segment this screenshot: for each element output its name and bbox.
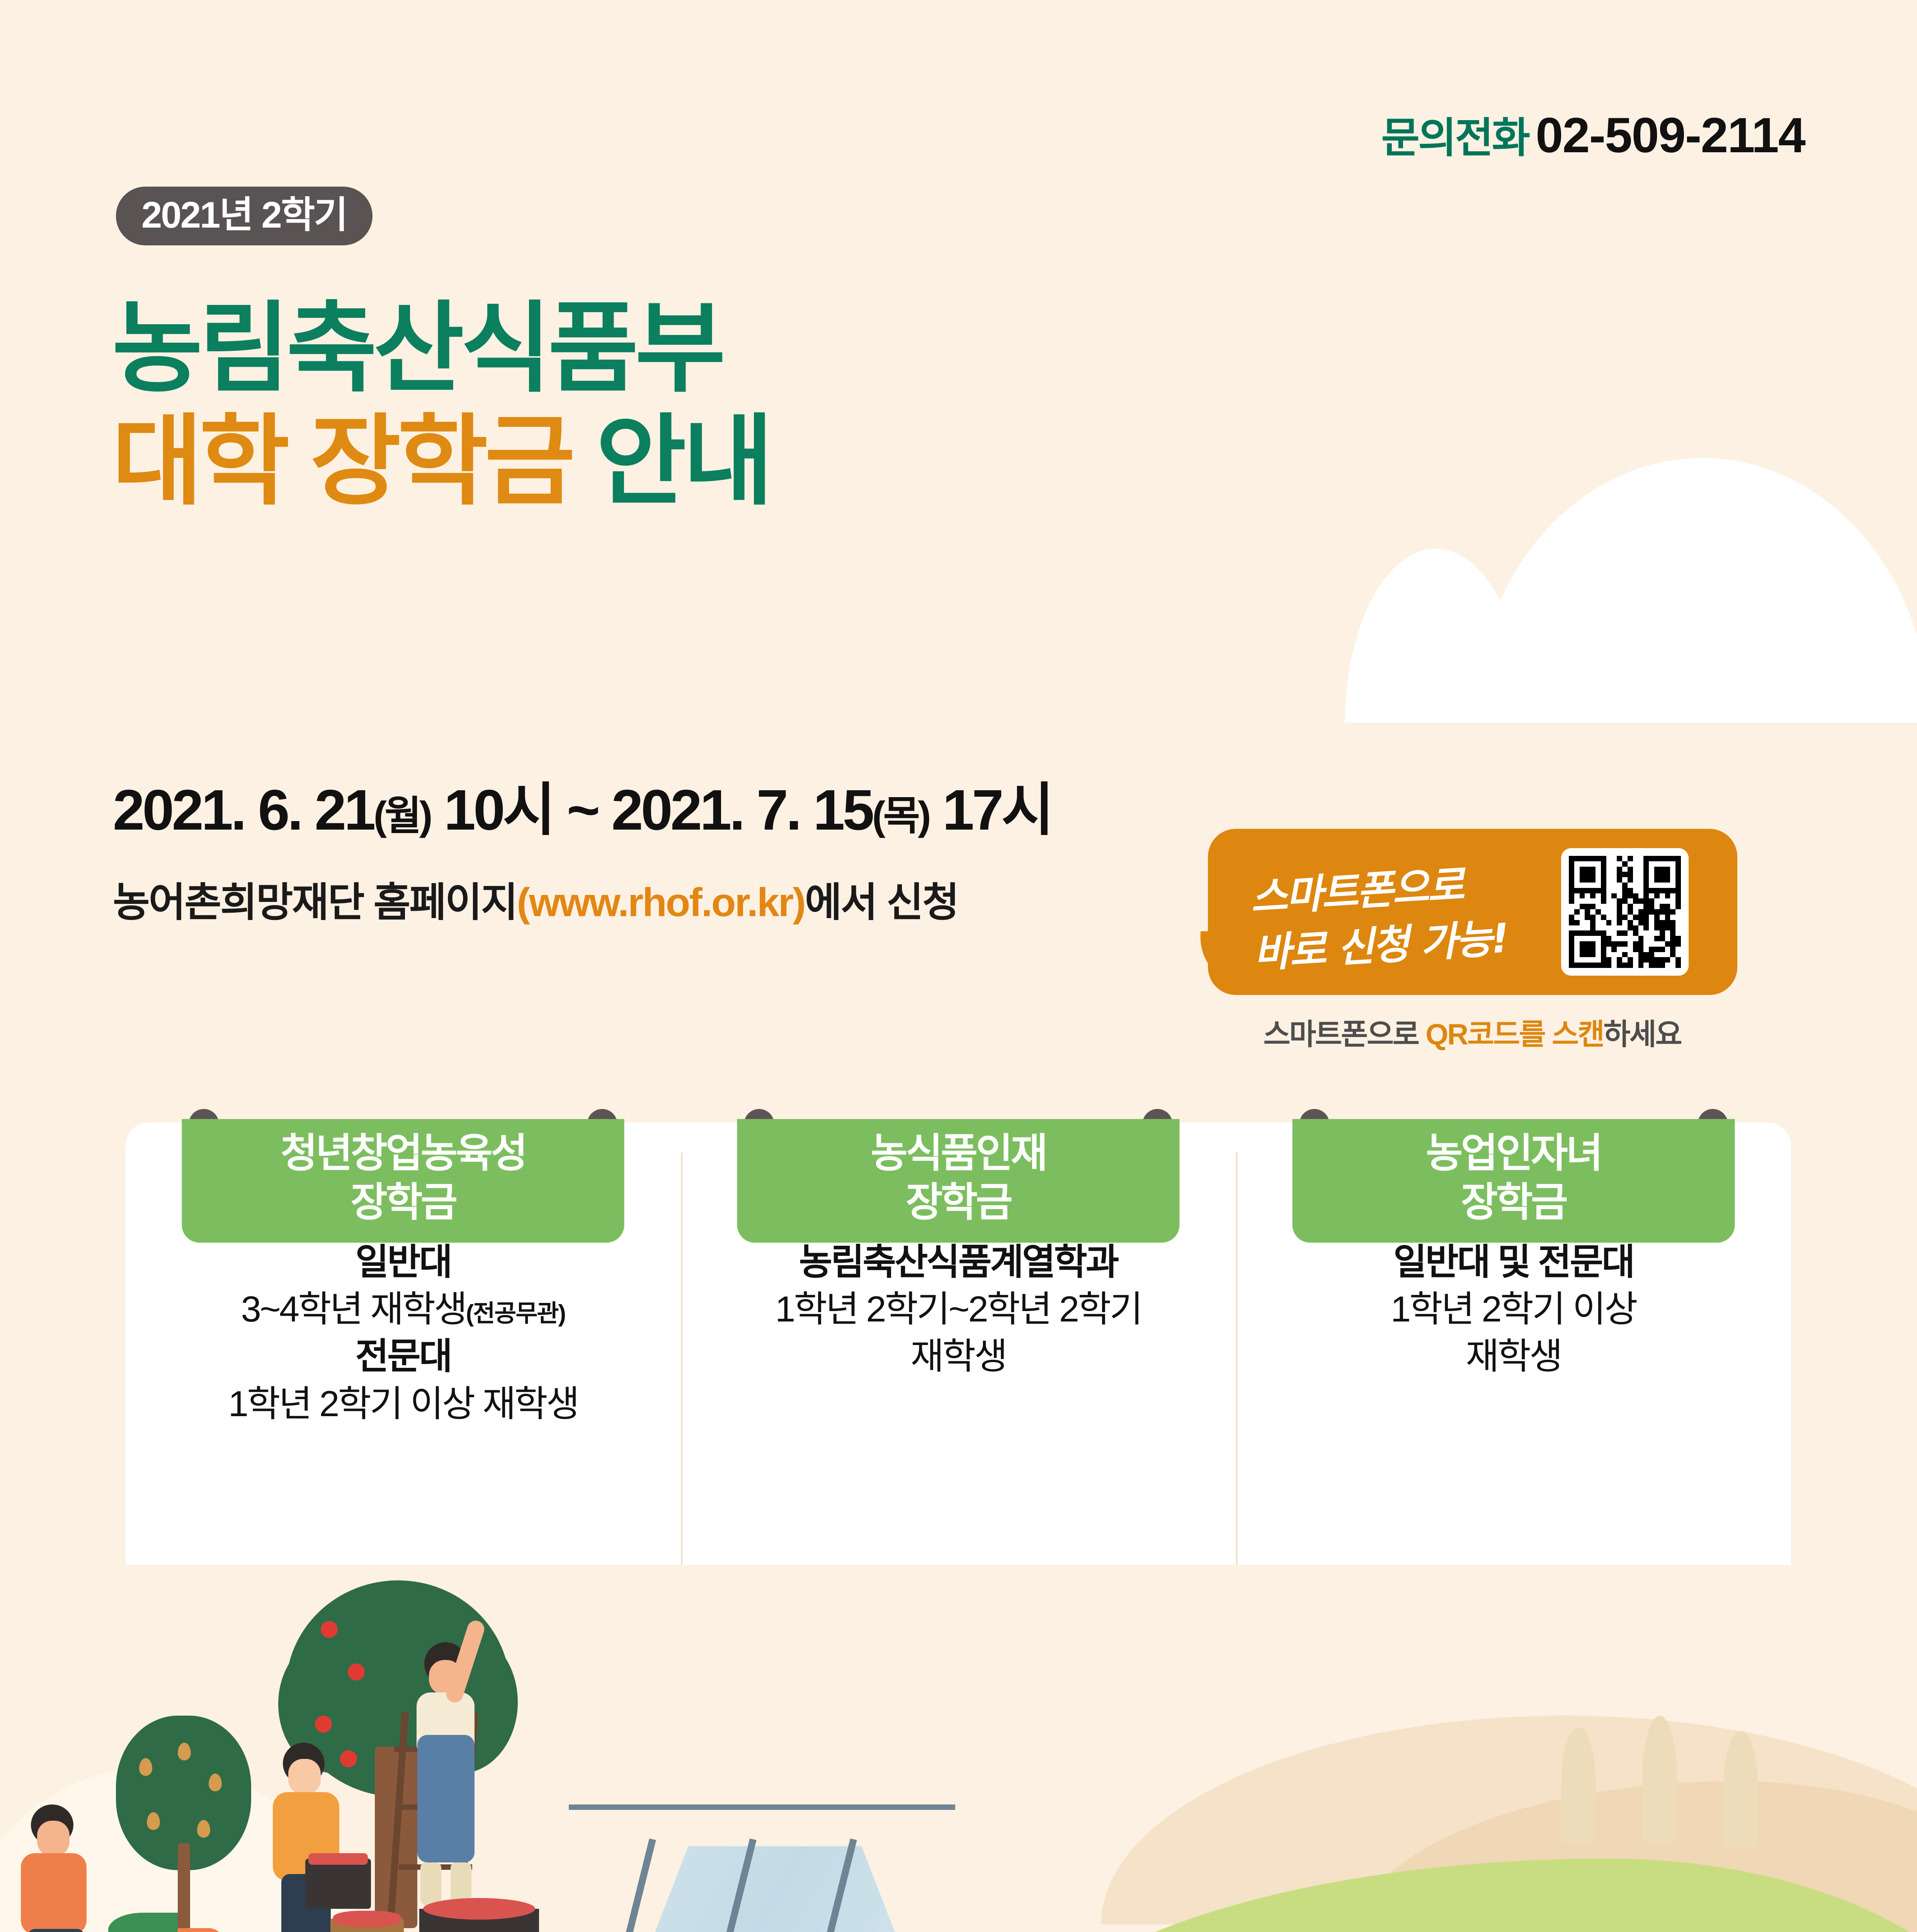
qr-module xyxy=(1574,856,1580,861)
qr-module xyxy=(1611,856,1617,861)
qr-module xyxy=(1654,877,1660,883)
qr-module xyxy=(1643,936,1649,941)
pear-fruit xyxy=(139,1758,152,1776)
qr-module xyxy=(1622,898,1628,904)
qr-module xyxy=(1638,893,1644,899)
qr-module xyxy=(1675,952,1681,957)
qr-module xyxy=(1585,856,1590,861)
qr-module xyxy=(1665,856,1670,861)
qr-module xyxy=(1670,936,1675,941)
qr-module xyxy=(1633,877,1638,883)
qr-module xyxy=(1601,957,1606,963)
qr-module xyxy=(1617,861,1622,867)
qr-module xyxy=(1601,856,1606,861)
qr-module xyxy=(1580,877,1585,883)
qr-module xyxy=(1606,867,1612,872)
qr-module xyxy=(1665,872,1670,877)
qr-module xyxy=(1633,861,1638,867)
qr-module xyxy=(1596,893,1601,899)
qr-caption-highlight: QR코드를 스캔 xyxy=(1425,1018,1604,1051)
qr-module xyxy=(1585,861,1590,867)
qr-module xyxy=(1665,893,1670,899)
qr-module xyxy=(1590,904,1596,909)
qr-module xyxy=(1574,867,1580,872)
qr-module xyxy=(1649,915,1654,920)
qr-module xyxy=(1675,877,1681,883)
farmer-picking-apples xyxy=(402,1642,491,1905)
qr-module xyxy=(1649,936,1654,941)
qr-module xyxy=(1675,963,1681,968)
qr-module xyxy=(1601,898,1606,904)
qr-module xyxy=(1670,952,1675,957)
scholarship-tab-header[interactable]: 농식품인재장학금 xyxy=(737,1119,1180,1243)
qr-module xyxy=(1596,856,1601,861)
qr-module xyxy=(1638,947,1644,952)
scholarship-eligibility: 농림축산식품계열학과1학년 2학기~2학년 2학기재학생 xyxy=(681,1238,1236,1380)
qr-module xyxy=(1649,941,1654,947)
qr-module xyxy=(1649,893,1654,899)
qr-module xyxy=(1670,877,1675,883)
qr-module xyxy=(1654,861,1660,867)
qr-module xyxy=(1643,898,1649,904)
qr-module xyxy=(1622,957,1628,963)
poplar-tree-1 xyxy=(1561,1727,1596,1843)
qr-module xyxy=(1622,872,1628,877)
qr-module xyxy=(1590,930,1596,936)
qr-module xyxy=(1675,861,1681,867)
qr-module xyxy=(1606,888,1612,893)
qr-module xyxy=(1670,898,1675,904)
qr-module xyxy=(1628,930,1633,936)
qr-module xyxy=(1569,941,1574,947)
period-end-time: 17시 xyxy=(942,778,1052,842)
qr-module xyxy=(1649,861,1654,867)
greenhouse-roof-glass xyxy=(533,1804,989,1932)
qr-module xyxy=(1590,883,1596,888)
eligibility-row: 3~4학년 재학생(전공무관) xyxy=(134,1286,672,1333)
qr-module xyxy=(1670,930,1675,936)
qr-module xyxy=(1628,941,1633,947)
qr-module xyxy=(1611,872,1617,877)
qr-module xyxy=(1585,877,1590,883)
qr-module xyxy=(1622,915,1628,920)
eligibility-row: 재학생 xyxy=(689,1333,1228,1380)
qr-module xyxy=(1665,877,1670,883)
qr-module xyxy=(1665,952,1670,957)
qr-module xyxy=(1649,920,1654,925)
pear-fruit xyxy=(209,1774,222,1791)
qr-module xyxy=(1580,867,1585,872)
qr-module xyxy=(1665,898,1670,904)
scholarship-tab-wrap: 청년창업농육성장학금 xyxy=(182,1109,624,1243)
qr-module xyxy=(1611,957,1617,963)
qr-module xyxy=(1606,904,1612,909)
qr-module xyxy=(1638,957,1644,963)
qr-module xyxy=(1660,904,1665,909)
qr-module xyxy=(1675,856,1681,861)
qr-module xyxy=(1660,861,1665,867)
qr-module xyxy=(1628,963,1633,968)
qr-module xyxy=(1569,861,1574,867)
scholarship-tab-header[interactable]: 청년창업농육성장학금 xyxy=(182,1119,624,1243)
qr-module xyxy=(1622,936,1628,941)
qr-module xyxy=(1585,872,1590,877)
qr-module xyxy=(1643,883,1649,888)
qr-module xyxy=(1660,930,1665,936)
qr-module xyxy=(1574,941,1580,947)
qr-module xyxy=(1660,877,1665,883)
qr-module xyxy=(1596,963,1601,968)
apple-fruit xyxy=(321,1621,338,1638)
scholarship-tab-line1: 농식품인재 xyxy=(737,1129,1180,1178)
qr-module xyxy=(1665,963,1670,968)
qr-module xyxy=(1660,915,1665,920)
qr-module xyxy=(1643,920,1649,925)
scholarship-tab-line2: 장학금 xyxy=(1292,1178,1735,1227)
qr-code[interactable] xyxy=(1561,848,1689,976)
qr-module xyxy=(1569,915,1574,920)
qr-module xyxy=(1611,883,1617,888)
qr-module xyxy=(1617,952,1622,957)
qr-module xyxy=(1660,898,1665,904)
qr-module xyxy=(1569,877,1574,883)
qr-module xyxy=(1649,856,1654,861)
qr-module xyxy=(1633,893,1638,899)
qr-module xyxy=(1622,930,1628,936)
qr-module xyxy=(1569,872,1574,877)
qr-module xyxy=(1638,861,1644,867)
pear-fruit xyxy=(197,1820,210,1838)
qr-module xyxy=(1601,861,1606,867)
qr-module xyxy=(1633,947,1638,952)
qr-module xyxy=(1622,856,1628,861)
qr-module xyxy=(1628,909,1633,915)
qr-module xyxy=(1611,877,1617,883)
qr-module xyxy=(1580,883,1585,888)
qr-module xyxy=(1585,952,1590,957)
qr-module xyxy=(1638,963,1644,968)
qr-module xyxy=(1580,872,1585,877)
page-title: 농림축산식품부 대학 장학금 안내 xyxy=(112,294,770,517)
qr-module xyxy=(1590,909,1596,915)
qr-module xyxy=(1569,947,1574,952)
greenhouse xyxy=(533,1804,989,1932)
qr-module xyxy=(1611,925,1617,931)
qr-module xyxy=(1643,930,1649,936)
qr-module xyxy=(1580,856,1585,861)
qr-module xyxy=(1670,925,1675,931)
qr-module xyxy=(1606,856,1612,861)
qr-module xyxy=(1580,893,1585,899)
qr-module xyxy=(1601,947,1606,952)
qr-module xyxy=(1638,883,1644,888)
qr-module xyxy=(1606,898,1612,904)
qr-module xyxy=(1580,947,1585,952)
qr-module xyxy=(1580,909,1585,915)
period-start-date: 2021. 6. 21 xyxy=(113,778,374,842)
qr-module xyxy=(1643,861,1649,867)
qr-module xyxy=(1643,872,1649,877)
qr-module xyxy=(1574,952,1580,957)
qr-module xyxy=(1649,909,1654,915)
qr-module xyxy=(1585,947,1590,952)
qr-module xyxy=(1611,947,1617,952)
qr-module xyxy=(1670,904,1675,909)
qr-module xyxy=(1574,877,1580,883)
qr-module xyxy=(1606,963,1612,968)
poplar-tree-2 xyxy=(1642,1716,1677,1843)
qr-module xyxy=(1654,947,1660,952)
scholarship-eligibility: 일반대 및 전문대1학년 2학기 이상재학생 xyxy=(1236,1238,1791,1380)
qr-module xyxy=(1638,941,1644,947)
qr-module xyxy=(1654,893,1660,899)
qr-module xyxy=(1569,883,1574,888)
qr-module xyxy=(1665,930,1670,936)
qr-bubble-text: 스마트폰으로 바로 신청 가능! xyxy=(1249,853,1541,981)
qr-module xyxy=(1606,861,1612,867)
qr-module xyxy=(1601,893,1606,899)
qr-module xyxy=(1628,947,1633,952)
qr-module xyxy=(1670,861,1675,867)
qr-module xyxy=(1649,925,1654,931)
qr-module xyxy=(1660,888,1665,893)
qr-module xyxy=(1654,867,1660,872)
qr-module xyxy=(1590,920,1596,925)
qr-module xyxy=(1622,941,1628,947)
qr-module xyxy=(1596,877,1601,883)
qr-module xyxy=(1585,909,1590,915)
qr-module xyxy=(1633,952,1638,957)
qr-module xyxy=(1596,888,1601,893)
qr-module xyxy=(1596,861,1601,867)
wheelbarrow-farmer-head xyxy=(37,1821,70,1856)
qr-module xyxy=(1628,952,1633,957)
qr-module xyxy=(1638,920,1644,925)
qr-module xyxy=(1590,877,1596,883)
cloud-shape-medium xyxy=(1345,549,1526,724)
qr-module xyxy=(1649,952,1654,957)
qr-module xyxy=(1638,909,1644,915)
qr-module xyxy=(1611,904,1617,909)
qr-module xyxy=(1601,952,1606,957)
qr-module xyxy=(1596,883,1601,888)
qr-module xyxy=(1606,915,1612,920)
qr-module xyxy=(1617,947,1622,952)
harvest-crate-fruit xyxy=(308,1853,368,1865)
qr-module xyxy=(1590,963,1596,968)
eligibility-row: 농림축산식품계열학과 xyxy=(689,1238,1228,1286)
cloud-shape-large xyxy=(1474,458,1917,724)
qr-module xyxy=(1622,952,1628,957)
qr-module xyxy=(1606,877,1612,883)
qr-module xyxy=(1622,893,1628,899)
qr-module xyxy=(1596,920,1601,925)
qr-module xyxy=(1611,867,1617,872)
apple-basket-fruit xyxy=(423,1898,535,1920)
period-start-day: (월) xyxy=(374,794,430,838)
site-prefix-text: 농어촌희망재단 홈페이지 xyxy=(113,880,517,925)
qr-module xyxy=(1633,957,1638,963)
qr-module xyxy=(1580,936,1585,941)
qr-module xyxy=(1675,909,1681,915)
qr-module xyxy=(1606,947,1612,952)
qr-module xyxy=(1622,963,1628,968)
qr-caption-pre: 스마트폰으로 xyxy=(1263,1018,1425,1051)
qr-module xyxy=(1665,904,1670,909)
qr-module xyxy=(1665,957,1670,963)
qr-module xyxy=(1596,904,1601,909)
qr-module xyxy=(1585,867,1590,872)
qr-module xyxy=(1665,888,1670,893)
qr-module xyxy=(1617,963,1622,968)
qr-module xyxy=(1617,872,1622,877)
qr-module xyxy=(1633,867,1638,872)
qr-module xyxy=(1569,898,1574,904)
eligibility-row: 1학년 2학기 이상 xyxy=(1244,1286,1783,1333)
qr-module xyxy=(1660,957,1665,963)
qr-module xyxy=(1654,909,1660,915)
qr-module xyxy=(1665,925,1670,931)
qr-module xyxy=(1665,883,1670,888)
qr-module xyxy=(1654,930,1660,936)
qr-module xyxy=(1665,861,1670,867)
qr-module xyxy=(1643,915,1649,920)
qr-module xyxy=(1633,936,1638,941)
application-url[interactable]: (www.rhof.or.kr) xyxy=(517,880,805,925)
qr-module xyxy=(1574,898,1580,904)
qr-module xyxy=(1606,925,1612,931)
period-end-date: 2021. 7. 15 xyxy=(611,778,872,842)
qr-module xyxy=(1617,909,1622,915)
qr-module xyxy=(1611,920,1617,925)
qr-module xyxy=(1606,883,1612,888)
qr-module xyxy=(1654,883,1660,888)
qr-module xyxy=(1569,888,1574,893)
qr-module xyxy=(1660,893,1665,899)
scholarship-tab-header[interactable]: 농업인자녀장학금 xyxy=(1292,1119,1735,1243)
qr-module xyxy=(1580,920,1585,925)
qr-module xyxy=(1622,883,1628,888)
qr-module xyxy=(1590,898,1596,904)
qr-module xyxy=(1660,883,1665,888)
qr-module xyxy=(1628,867,1633,872)
farmer-boot-left xyxy=(420,1862,441,1905)
qr-module xyxy=(1596,872,1601,877)
qr-module xyxy=(1654,915,1660,920)
qr-module xyxy=(1643,952,1649,957)
pear-tree-trunk xyxy=(178,1843,190,1932)
qr-module xyxy=(1665,941,1670,947)
qr-module xyxy=(1638,904,1644,909)
qr-module xyxy=(1633,888,1638,893)
qr-module xyxy=(1638,898,1644,904)
qr-module xyxy=(1633,909,1638,915)
qr-module xyxy=(1675,872,1681,877)
qr-module xyxy=(1574,872,1580,877)
qr-module xyxy=(1628,936,1633,941)
qr-module xyxy=(1569,963,1574,968)
qr-module xyxy=(1611,936,1617,941)
qr-module xyxy=(1643,963,1649,968)
qr-module xyxy=(1596,957,1601,963)
qr-module xyxy=(1580,898,1585,904)
scholarship-tab-line1: 농업인자녀 xyxy=(1292,1129,1735,1178)
qr-module xyxy=(1617,941,1622,947)
qr-module xyxy=(1590,925,1596,931)
scholarship-tab-wrap: 농업인자녀장학금 xyxy=(1292,1109,1735,1243)
contact-phone: 문의전화 02-509-2114 xyxy=(1381,104,1805,165)
apple-fruit xyxy=(315,1716,332,1733)
qr-module xyxy=(1601,883,1606,888)
qr-module xyxy=(1606,936,1612,941)
qr-module xyxy=(1580,930,1585,936)
qr-module xyxy=(1617,920,1622,925)
qr-module xyxy=(1633,930,1638,936)
qr-module xyxy=(1633,920,1638,925)
greenhouse-strut-1 xyxy=(573,1838,656,1932)
qr-module xyxy=(1617,893,1622,899)
qr-module xyxy=(1617,925,1622,931)
qr-module xyxy=(1617,898,1622,904)
qr-module xyxy=(1601,872,1606,877)
qr-module xyxy=(1617,904,1622,909)
qr-module xyxy=(1622,861,1628,867)
qr-module xyxy=(1569,930,1574,936)
qr-module xyxy=(1596,941,1601,947)
qr-module xyxy=(1569,867,1574,872)
site-suffix-text: 에서 신청 xyxy=(805,880,958,925)
qr-module xyxy=(1649,872,1654,877)
qr-module xyxy=(1643,904,1649,909)
qr-module xyxy=(1585,904,1590,909)
qr-module xyxy=(1622,920,1628,925)
qr-module xyxy=(1569,936,1574,941)
qr-module xyxy=(1574,957,1580,963)
qr-module xyxy=(1590,957,1596,963)
qr-module xyxy=(1649,930,1654,936)
qr-module xyxy=(1670,872,1675,877)
qr-module xyxy=(1643,947,1649,952)
qr-module xyxy=(1665,915,1670,920)
qr-module xyxy=(1580,915,1585,920)
qr-module xyxy=(1670,888,1675,893)
qr-module xyxy=(1569,957,1574,963)
qr-module xyxy=(1596,867,1601,872)
qr-module xyxy=(1628,883,1633,888)
qr-module xyxy=(1606,941,1612,947)
qr-module xyxy=(1585,915,1590,920)
qr-module xyxy=(1611,930,1617,936)
qr-module xyxy=(1590,888,1596,893)
qr-module xyxy=(1628,893,1633,899)
scholarship-tab-wrap: 농식품인재장학금 xyxy=(737,1109,1180,1243)
qr-module xyxy=(1654,963,1660,968)
crate-farmer-head xyxy=(288,1759,321,1794)
qr-module xyxy=(1574,893,1580,899)
qr-module xyxy=(1617,888,1622,893)
qr-module xyxy=(1675,915,1681,920)
qr-module xyxy=(1649,963,1654,968)
qr-module xyxy=(1649,877,1654,883)
qr-module xyxy=(1601,915,1606,920)
qr-module xyxy=(1590,893,1596,899)
semester-badge-label: 2021년 2학기 xyxy=(141,194,347,236)
eligibility-row: 재학생 xyxy=(1244,1333,1783,1380)
phone-number: 02-509-2114 xyxy=(1536,107,1805,164)
qr-module xyxy=(1601,877,1606,883)
qr-module xyxy=(1654,872,1660,877)
qr-module xyxy=(1670,920,1675,925)
